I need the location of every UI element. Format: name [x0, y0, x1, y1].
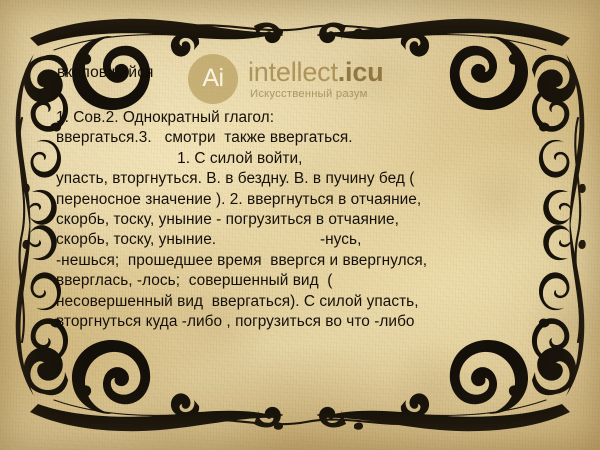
- entry-line: вторгнуться куда -либо , погрузиться во …: [56, 312, 548, 332]
- content-layer: вколовшийся 1. Сов.2. Однократный глагол…: [0, 0, 600, 450]
- parchment-dictionary-card: Ai intellect.icu Искусственный разум вко…: [0, 0, 600, 450]
- entry-line: ввергаться.3. смотри также ввергаться.: [56, 128, 548, 148]
- entry-line: несовершенный вид ввергаться). С силой у…: [56, 292, 548, 312]
- entry-line: -нешься; прошедшее время ввергся и вверг…: [56, 251, 548, 271]
- entry-line: вверглась, -лось; совершенный вид (: [56, 271, 548, 291]
- entry-line: скорбь, тоску, уныние. -нусь,: [56, 230, 548, 250]
- entry-line: 1. Сов.2. Однократный глагол:: [56, 108, 548, 128]
- dictionary-entry-body: 1. Сов.2. Однократный глагол:ввергаться.…: [56, 108, 548, 332]
- entry-line: переносное значение ). 2. ввергнуться в …: [56, 190, 548, 210]
- entry-line: скорбь, тоску, уныние - погрузиться в от…: [56, 210, 548, 230]
- page-title: вколовшийся: [57, 64, 154, 82]
- entry-line: упасть, вторгнуться. В. в бездну. В. в п…: [56, 169, 548, 189]
- entry-line: 1. С силой войти,: [56, 149, 548, 169]
